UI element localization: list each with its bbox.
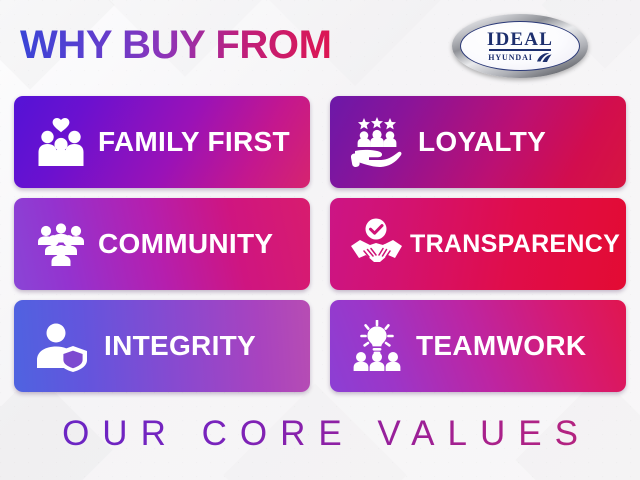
value-card-family-first[interactable]: FAMILY FIRST [14,96,310,188]
value-card-transparency[interactable]: TRANSPARENCY [330,198,626,290]
value-card-community[interactable]: COMMUNITY [14,198,310,290]
crowd-people-icon [34,213,88,275]
logo-brand-text: IDEAL [487,31,553,48]
header: WHY BUY FROM IDEAL HYUNDAI [0,0,640,92]
logo-underline [489,49,551,51]
value-card-integrity[interactable]: INTEGRITY [14,300,310,392]
family-heart-icon [34,111,88,173]
footer: OUR CORE VALUES [0,412,640,456]
values-card-grid: FAMILY FIRST LOYALTY [14,96,626,392]
value-card-label: TRANSPARENCY [410,229,620,259]
slide-canvas: WHY BUY FROM IDEAL HYUNDAI [0,0,640,480]
hand-stars-people-icon [350,111,404,173]
handshake-check-icon [350,213,404,275]
logo-bottom-row: HYUNDAI [488,52,552,63]
ideal-hyundai-logo: IDEAL HYUNDAI [452,14,588,78]
lightbulb-team-icon [350,315,404,377]
page-title: WHY BUY FROM [20,22,332,68]
value-card-label: FAMILY FIRST [98,127,290,157]
value-card-loyalty[interactable]: LOYALTY [330,96,626,188]
hyundai-swoosh-icon [536,52,552,63]
person-shield-icon [34,315,88,377]
logo-sub-text: HYUNDAI [488,53,533,62]
value-card-label: COMMUNITY [98,229,273,259]
value-card-label: TEAMWORK [416,331,586,361]
logo-oval-inner: IDEAL HYUNDAI [460,21,580,71]
value-card-label: INTEGRITY [104,331,256,361]
footer-tagline: OUR CORE VALUES [49,412,591,456]
value-card-teamwork[interactable]: TEAMWORK [330,300,626,392]
value-card-label: LOYALTY [418,127,546,157]
